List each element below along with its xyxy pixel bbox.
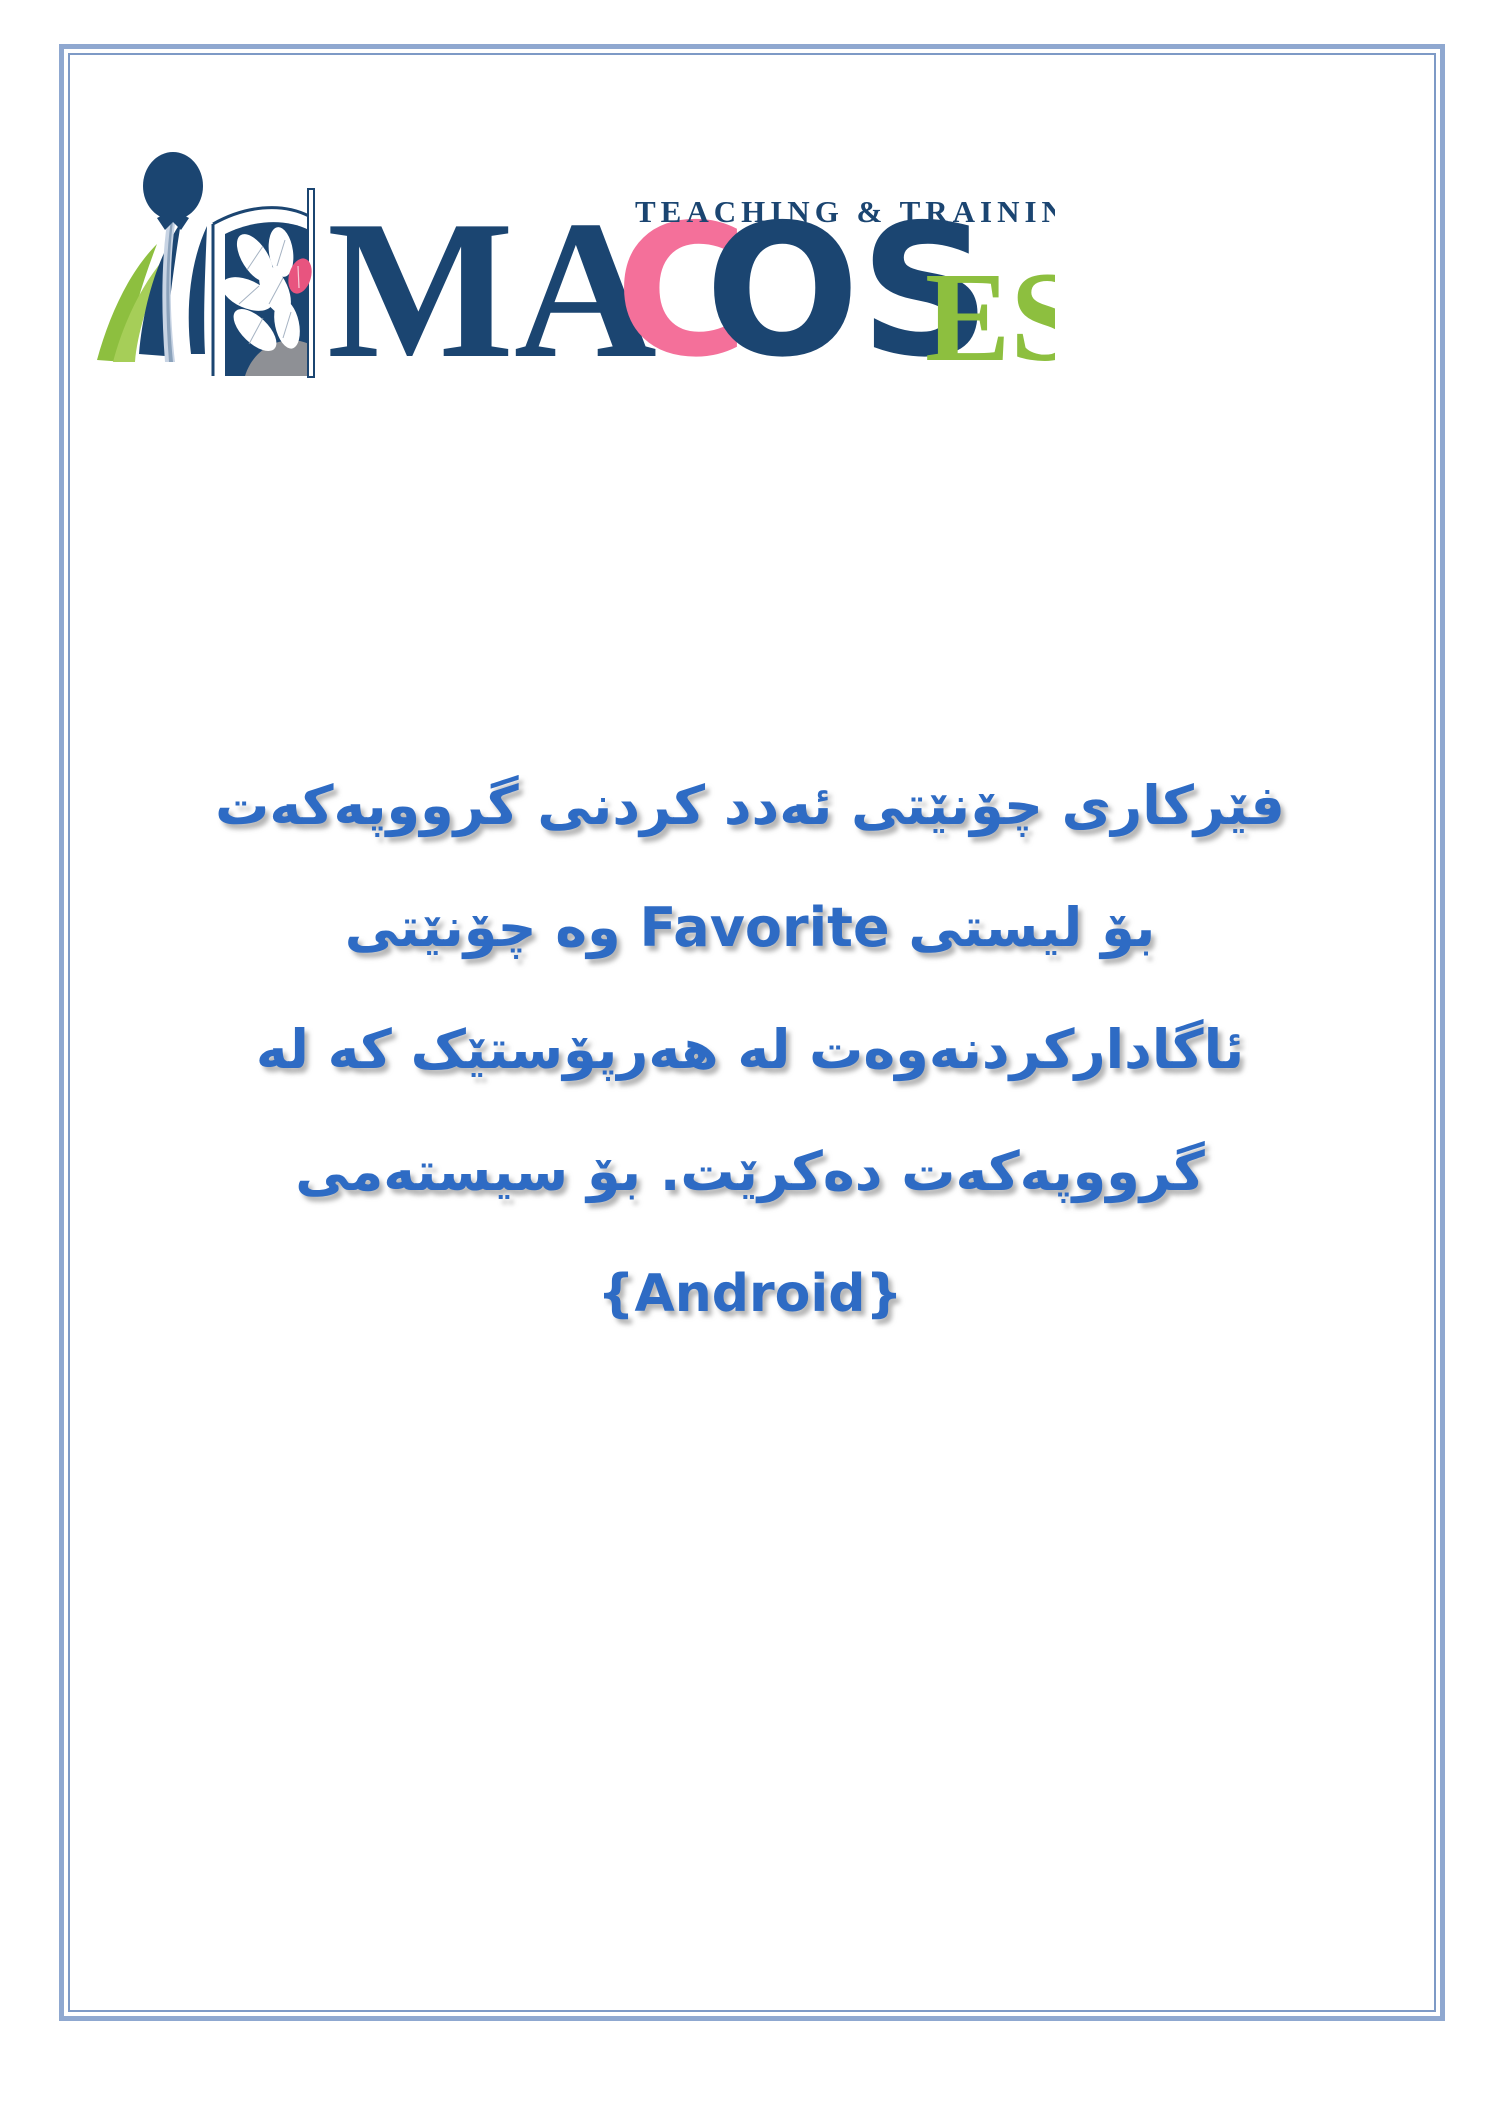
title-line-5: {Android} [95, 1233, 1405, 1355]
logo-emblem-icon [97, 152, 316, 378]
document-title-block: فێرکاری چۆنێتی ئەدد کردنی گرووپەکەت بۆ ل… [95, 745, 1405, 1355]
logo-text-esl: ESL [925, 246, 1055, 378]
title-line-1: فێرکاری چۆنێتی ئەدد کردنی گرووپەکەت [95, 745, 1405, 867]
title-line-4: گرووپەکەت دەکرێت. بۆ سیستەمی [95, 1111, 1405, 1233]
title-line-2: بۆ لیستی Favorite وە چۆنێتی [95, 867, 1405, 989]
logo-wordmark: MA C OS ESL TEACHING & TRAINING [327, 180, 1055, 378]
title-line-3: ئاگادارکردنەوەت لە هەرپۆستێک کە لە [95, 989, 1405, 1111]
document-page: MA C OS ESL TEACHING & TRAINING فێرکاری … [0, 0, 1500, 2121]
macos-esl-logo: MA C OS ESL TEACHING & TRAINING [95, 148, 1055, 378]
logo-tagline: TEACHING & TRAINING [635, 194, 1055, 229]
logo-text-ma: MA [327, 180, 657, 378]
